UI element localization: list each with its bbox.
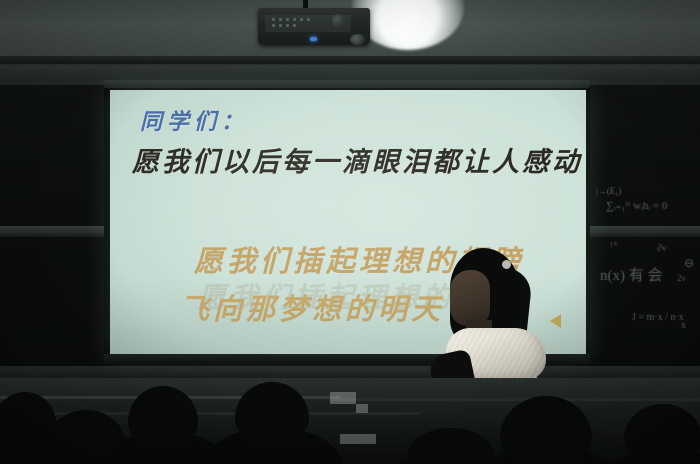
- audience-paper: [340, 434, 376, 444]
- slide-dark-line-text: 愿我们以后每一滴眼泪都让人感动: [132, 140, 582, 179]
- screen-roller-housing[interactable]: [104, 80, 590, 88]
- audience-paper: [356, 404, 368, 413]
- speaker-hair-clip-icon: [502, 260, 511, 269]
- projector-vent-icon: [279, 18, 282, 21]
- audience-7-head: [624, 404, 700, 464]
- audience-paper: [330, 392, 356, 404]
- classroom-scene: |→(E₁)∑ᵢ₌₁ᴺ wᵢhᵢ = 0↑ᴱ∂νn(x) 有 会2ν⊖J = m…: [0, 0, 700, 464]
- projector-vent-icon: [307, 18, 310, 21]
- audience-4-head: [235, 382, 309, 444]
- slide-greeting-text: 同学们：: [140, 104, 248, 136]
- projector-vent-icon: [300, 18, 303, 21]
- projector-lens-icon: [350, 34, 365, 45]
- projector-vent-icon: [286, 24, 289, 27]
- projector-vent-icon: [293, 24, 296, 27]
- speaker-face: [450, 270, 490, 326]
- desk-edge-line: [330, 398, 700, 401]
- projector-vent-icon: [279, 24, 282, 27]
- ceiling-projector[interactable]: [258, 8, 370, 45]
- projector-power-led-icon: [310, 37, 317, 41]
- projector-vent-icon: [272, 18, 275, 21]
- slide-gold-line-2-text: 飞向那梦想的明天: [180, 286, 444, 328]
- projector-focus-knob[interactable]: [332, 14, 345, 27]
- projector-vent-icon: [286, 18, 289, 21]
- projector-vent-icon: [272, 24, 275, 27]
- projector-vent-icon: [293, 18, 296, 21]
- audience-3-head: [128, 386, 198, 448]
